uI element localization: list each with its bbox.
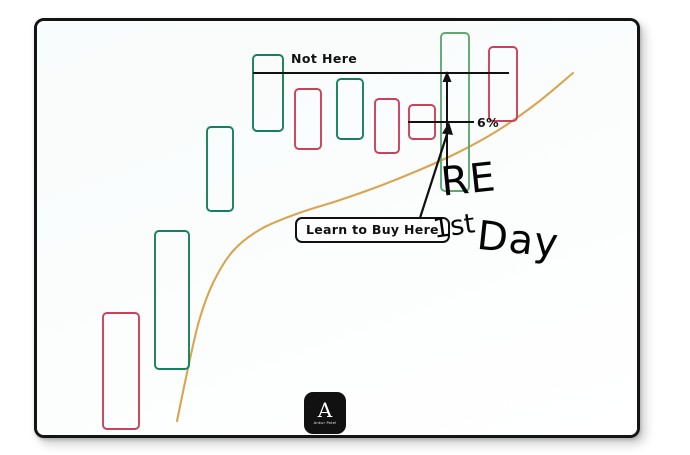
candle-1-down: [103, 313, 139, 429]
not-here-label: Not Here: [291, 51, 357, 66]
learn-to-buy-here-callout: Learn to Buy Here: [295, 217, 450, 243]
whiteboard-frame: Not Here 6% Learn to Buy Here RE 1st Day…: [34, 18, 640, 438]
logo-caption: Ankur Patel: [314, 420, 337, 426]
candle-2-up: [155, 231, 189, 369]
candle-5-down: [295, 89, 321, 149]
candle-6-up: [337, 79, 363, 139]
handwriting-1st: 1st: [431, 208, 477, 245]
candle-7-down: [375, 99, 399, 153]
handwriting-day: Day: [475, 213, 561, 267]
brand-logo-badge: A Ankur Patel: [304, 392, 346, 434]
screenshot-root: Not Here 6% Learn to Buy Here RE 1st Day…: [0, 0, 690, 455]
candle-4-up: [253, 55, 283, 131]
percent-move-label: 6%: [477, 115, 499, 130]
candle-10-down: [489, 47, 517, 121]
logo-monogram-icon: A: [318, 400, 332, 420]
candle-3-up: [207, 127, 233, 211]
handwriting-re: RE: [439, 154, 499, 206]
whiteboard-surface: Not Here 6% Learn to Buy Here RE 1st Day…: [37, 21, 637, 435]
